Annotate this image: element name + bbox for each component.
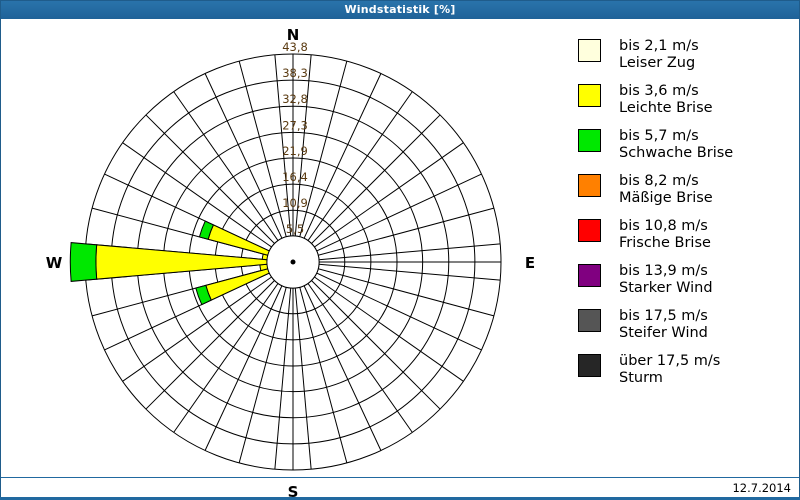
legend-name-label: Schwache Brise (619, 145, 733, 162)
legend-color-swatch (578, 174, 601, 197)
legend-label: bis 13,9 m/sStarker Wind (619, 263, 713, 297)
wind-rose-petal-segment (70, 243, 96, 282)
radial-tick-label: 21,9 (282, 144, 308, 158)
polar-center-hole (267, 236, 319, 288)
legend: bis 2,1 m/sLeiser Zugbis 3,6 m/sLeichte … (578, 38, 793, 398)
grid-spoke (123, 262, 293, 381)
legend-color-swatch (578, 264, 601, 287)
windstatistik-window: Windstatistik [%] 5,510,916,421,927,332,… (0, 0, 800, 500)
legend-speed-label: bis 8,2 m/s (619, 173, 713, 190)
legend-label: bis 3,6 m/sLeichte Brise (619, 83, 713, 117)
compass-label-east: E (525, 254, 535, 272)
compass-label-west: W (46, 254, 63, 272)
legend-name-label: Mäßige Brise (619, 190, 713, 207)
legend-item: über 17,5 m/sSturm (578, 353, 793, 392)
radial-tick-label: 5,5 (286, 222, 304, 236)
footer-divider (1, 477, 799, 478)
legend-label: über 17,5 m/sSturm (619, 353, 720, 387)
legend-item: bis 13,9 m/sStarker Wind (578, 263, 793, 302)
grid-spoke (123, 143, 293, 262)
grid-spoke (293, 262, 381, 451)
grid-spoke (293, 208, 494, 262)
legend-speed-label: bis 10,8 m/s (619, 218, 711, 235)
legend-speed-label: bis 5,7 m/s (619, 128, 733, 145)
grid-spoke (293, 262, 412, 432)
legend-color-swatch (578, 129, 601, 152)
footer-date: 12.7.2014 (732, 481, 791, 495)
grid-spoke (293, 174, 482, 262)
radial-tick-label: 10,9 (282, 196, 308, 210)
grid-spoke (293, 262, 494, 316)
legend-item: bis 5,7 m/sSchwache Brise (578, 128, 793, 167)
grid-spoke (293, 92, 412, 262)
legend-label: bis 10,8 m/sFrische Brise (619, 218, 711, 252)
window-title: Windstatistik [%] (344, 3, 455, 16)
grid-spoke (239, 262, 293, 463)
grid-spoke (293, 262, 482, 350)
legend-speed-label: bis 17,5 m/s (619, 308, 708, 325)
legend-item: bis 17,5 m/sSteifer Wind (578, 308, 793, 347)
grid-spoke (293, 115, 440, 262)
legend-name-label: Steifer Wind (619, 325, 708, 342)
legend-name-label: Frische Brise (619, 235, 711, 252)
legend-color-swatch (578, 219, 601, 242)
center-dot (291, 260, 296, 265)
compass-label-north: N (287, 26, 300, 44)
legend-label: bis 8,2 m/sMäßige Brise (619, 173, 713, 207)
legend-label: bis 2,1 m/sLeiser Zug (619, 38, 699, 72)
radial-tick-label: 38,3 (282, 66, 308, 80)
legend-speed-label: über 17,5 m/s (619, 353, 720, 370)
compass-label-south: S (288, 483, 299, 497)
grid-spoke (293, 262, 440, 409)
legend-label: bis 17,5 m/sSteifer Wind (619, 308, 708, 342)
legend-label: bis 5,7 m/sSchwache Brise (619, 128, 733, 162)
grid-spoke (293, 262, 463, 381)
radial-tick-label: 32,8 (282, 92, 308, 106)
legend-name-label: Leiser Zug (619, 55, 699, 72)
legend-speed-label: bis 13,9 m/s (619, 263, 713, 280)
legend-speed-label: bis 3,6 m/s (619, 83, 713, 100)
legend-color-swatch (578, 309, 601, 332)
legend-item: bis 3,6 m/sLeichte Brise (578, 83, 793, 122)
legend-item: bis 8,2 m/sMäßige Brise (578, 173, 793, 212)
window-titlebar: Windstatistik [%] (0, 0, 800, 19)
grid-spoke (293, 143, 463, 262)
legend-color-swatch (578, 84, 601, 107)
legend-color-swatch (578, 39, 601, 62)
legend-item: bis 10,8 m/sFrische Brise (578, 218, 793, 257)
radial-tick-label: 27,3 (282, 118, 308, 132)
legend-name-label: Leichte Brise (619, 100, 713, 117)
radial-tick-label: 16,4 (282, 170, 308, 184)
legend-color-swatch (578, 354, 601, 377)
legend-name-label: Sturm (619, 370, 720, 387)
legend-name-label: Starker Wind (619, 280, 713, 297)
legend-speed-label: bis 2,1 m/s (619, 38, 699, 55)
grid-spoke (293, 262, 347, 463)
legend-item: bis 2,1 m/sLeiser Zug (578, 38, 793, 77)
